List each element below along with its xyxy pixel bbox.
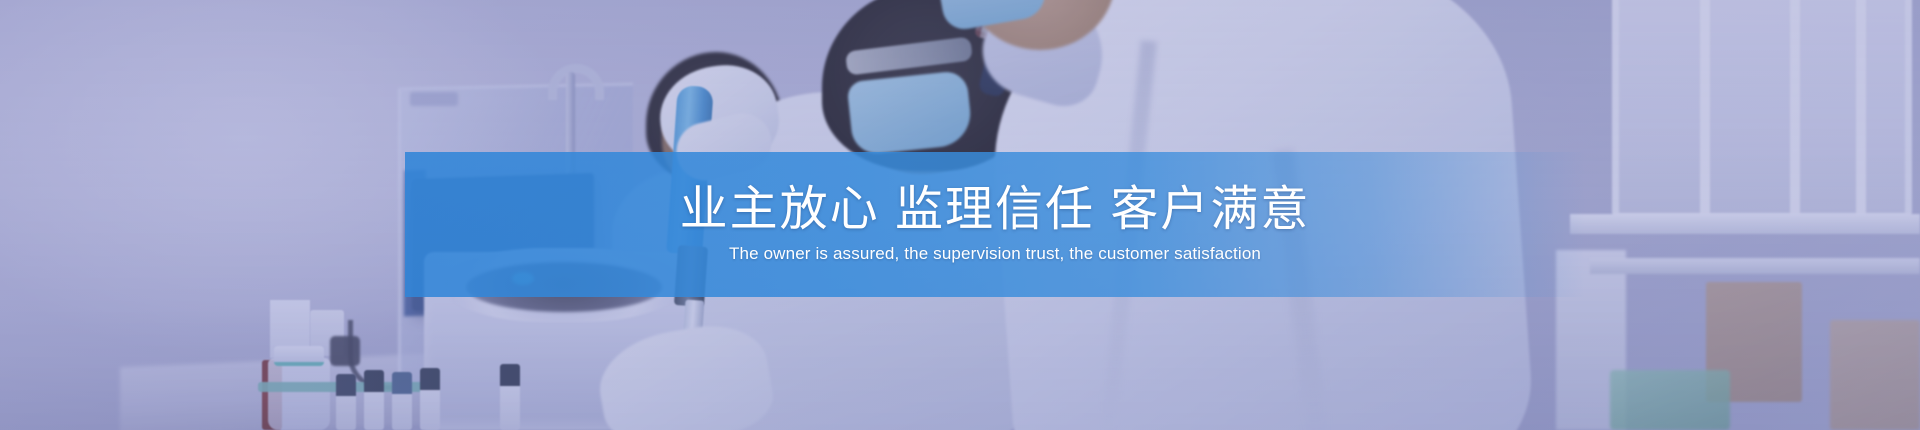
banner-text-block: 业主放心 监理信任 客户满意 The owner is assured, the…	[405, 152, 1585, 297]
banner-headline: 业主放心 监理信任 客户满意	[680, 185, 1311, 235]
banner-subline: The owner is assured, the supervision tr…	[729, 244, 1261, 264]
hero-banner: 业主放心 监理信任 客户满意 The owner is assured, the…	[0, 0, 1920, 430]
